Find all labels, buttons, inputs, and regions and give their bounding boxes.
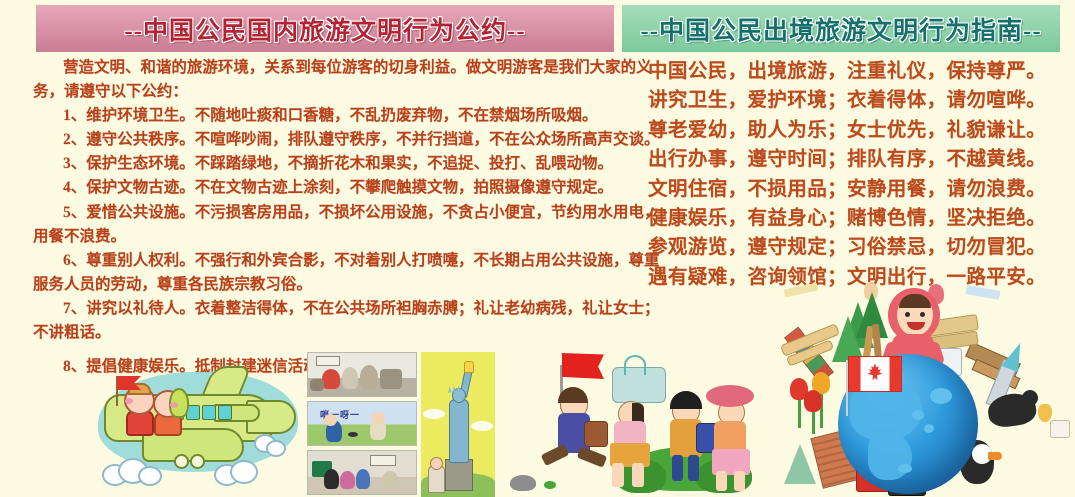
comic-sign-shape bbox=[370, 455, 396, 466]
comic-figure-head-shape bbox=[324, 414, 337, 426]
tourist-leg-shape bbox=[577, 446, 607, 468]
right-text-line: 文明住宿，不损用品；安静用餐，请勿浪费。 bbox=[648, 175, 1060, 204]
tower-spire-shape bbox=[1001, 340, 1028, 373]
left-text-line: 3、保护生态环境。不踩踏绿地，不摘折花木和果实，不追捉、投打、乱喂动物。 bbox=[33, 152, 611, 176]
right-text-line: 中国公民，出境旅游，注重礼仪，保持尊严。 bbox=[648, 57, 1060, 86]
statue-of-liberty-graffiti-illustration bbox=[421, 352, 495, 497]
left-text-line: 7、讲究以礼待人。衣着整洁得体，不在公共场所袒胸赤膊；礼让老幼病残，礼让女士； bbox=[33, 297, 611, 321]
right-panel-text-block: 中国公民，出境旅游，注重礼仪，保持尊严。 讲究卫生，爱护环境；衣着得体，请勿喧哗… bbox=[648, 57, 1060, 292]
maple-syrup-shape bbox=[1038, 404, 1052, 422]
left-panel-text-block: 营造文明、和谐的旅游环境，关系到每位游客的切身利益。做文明游客是我们大家的义 务… bbox=[33, 56, 611, 379]
comic-strip-uncivilized-behavior-illustration: 哨一呀一 bbox=[307, 352, 419, 497]
comic-figure-shape bbox=[340, 471, 355, 489]
tourist-leg-shape bbox=[632, 463, 644, 487]
right-panel-title: --中国公民出境旅游文明行为指南-- bbox=[640, 11, 1041, 47]
comic-figure-shape bbox=[324, 469, 339, 489]
comic-figure-shape bbox=[356, 469, 370, 489]
tourist-leg-shape bbox=[734, 471, 745, 491]
left-text-line: 4、保护文物古迹。不在文物古迹上涂刻，不攀爬触摸文物，拍照摄像遵守规定。 bbox=[33, 176, 611, 200]
tour-group-with-red-flag-illustration bbox=[500, 345, 755, 497]
cloud-shape bbox=[138, 466, 162, 486]
tourist-head-shape bbox=[430, 457, 443, 470]
comic-trash-shape bbox=[310, 379, 324, 391]
right-text-line: 讲究卫生，爱护环境；衣着得体，请勿喧哗。 bbox=[648, 86, 1060, 115]
comic-figure-shape bbox=[382, 471, 398, 489]
mountain-shape bbox=[784, 444, 816, 484]
sky-plane-icon bbox=[784, 283, 819, 298]
left-text-line: 用餐不浪费。 bbox=[33, 225, 611, 249]
tourist-leg-shape bbox=[612, 463, 624, 487]
comic-figure-shape bbox=[342, 367, 358, 389]
comic-figure-head-shape bbox=[372, 412, 385, 424]
comic-figure-shape bbox=[322, 369, 340, 389]
left-text-line: 6、尊重别人权利。不强行和外宾合影，不对着别人打喷嚏，不长期占用公共设施，尊重 bbox=[33, 249, 611, 273]
left-text-line: 1、维护环境卫生。不随地吐痰和口香糖，不乱扔废弃物，不在禁烟场所吸烟。 bbox=[33, 104, 611, 128]
bear-head-shape bbox=[1022, 390, 1038, 406]
cloud-shape bbox=[423, 409, 445, 419]
left-text-line: 5、爱惜公共设施。不污损客房用品，不损坏公用设施，不贪占小便宜，节约用水用电， bbox=[33, 201, 611, 225]
tourist-hair-shape bbox=[670, 391, 702, 409]
right-text-line: 参观游览，遵守规定；习俗禁忌，切勿冒犯。 bbox=[648, 233, 1060, 262]
comic-figure-shape bbox=[360, 365, 378, 389]
canada-travel-globe-illustration bbox=[760, 282, 1075, 497]
left-text-line: 服务人员的劳动，尊重各民族宗教习俗。 bbox=[33, 273, 611, 297]
cartoon-airplane-tourists-illustration bbox=[86, 352, 310, 497]
grass-tuft-shape bbox=[544, 481, 556, 489]
tourist-leg-shape bbox=[672, 455, 683, 481]
puffin-beak-shape bbox=[988, 452, 1002, 460]
island-shape bbox=[898, 464, 912, 473]
comic-panel-spitting-shouting: 哨一呀一 bbox=[307, 401, 417, 446]
cloud-shape bbox=[230, 460, 258, 484]
left-text-line: 营造文明、和谐的旅游环境，关系到每位游客的切身利益。做文明游客是我们大家的义 bbox=[33, 56, 611, 80]
liberty-body-shape bbox=[449, 399, 469, 463]
island-shape bbox=[912, 410, 924, 420]
rock-shape bbox=[510, 475, 536, 491]
tulip-flower-shape bbox=[804, 390, 822, 412]
left-text-line: 务，请遵守以下公约： bbox=[33, 80, 611, 104]
left-text-line: 2、遵守公共秩序。不喧哗吵闹，排队遵守秩序，不并行挡道，不在公众场所高声交谈。 bbox=[33, 128, 611, 152]
left-panel-title: --中国公民国内旅游文明行为公约-- bbox=[124, 11, 525, 47]
bag-handle-shape bbox=[624, 355, 646, 375]
sun-hat-shape bbox=[706, 385, 754, 407]
left-text-line: 不讲粗话。 bbox=[33, 321, 611, 345]
right-panel-banner: --中国公民出境旅游文明行为指南-- bbox=[622, 5, 1060, 52]
passenger-cheek-shape bbox=[125, 398, 133, 404]
tourist-leg-shape bbox=[541, 444, 570, 466]
plane-wheel-shape bbox=[190, 454, 205, 469]
package-shape bbox=[1050, 420, 1070, 438]
right-text-line: 健康娱乐，有益身心；赌博色情，坚决拒绝。 bbox=[648, 204, 1060, 233]
girl-eye-shape bbox=[920, 312, 925, 317]
sky-plane-icon bbox=[965, 285, 1000, 300]
comic-panel-littering bbox=[307, 352, 417, 397]
liberty-pedestal-shape bbox=[445, 459, 473, 491]
liberty-torch-icon bbox=[464, 361, 474, 373]
plane-wheel-shape bbox=[174, 454, 189, 469]
plane-window-shape bbox=[202, 405, 216, 420]
poster-root: --中国公民国内旅游文明行为公约-- --中国公民出境旅游文明行为指南-- 营造… bbox=[0, 0, 1075, 497]
left-panel-banner: --中国公民国内旅游文明行为公约-- bbox=[36, 5, 614, 52]
island-shape bbox=[930, 388, 952, 404]
comic-sign-shape bbox=[316, 356, 340, 366]
tourist-leg-shape bbox=[688, 455, 699, 481]
cloud-shape bbox=[471, 421, 493, 431]
comic-panel-queue-jumping bbox=[307, 450, 417, 495]
right-text-line: 尊老爱幼，助人为乐；女士优先，礼貌谦让。 bbox=[648, 116, 1060, 145]
comic-spit-shape bbox=[348, 432, 358, 437]
plane-window-shape bbox=[218, 405, 232, 420]
island-shape bbox=[924, 424, 934, 433]
passenger-cheek-shape bbox=[170, 402, 178, 408]
backpack-shape bbox=[584, 421, 608, 447]
comic-trash-shape bbox=[380, 369, 402, 389]
red-flag-icon bbox=[562, 353, 604, 379]
tourist-leg-shape bbox=[716, 471, 727, 491]
girl-eye-shape bbox=[905, 312, 910, 317]
right-text-line: 出行办事，遵守时间；排队有序，不越黄线。 bbox=[648, 145, 1060, 174]
cloud-shape bbox=[266, 440, 286, 457]
